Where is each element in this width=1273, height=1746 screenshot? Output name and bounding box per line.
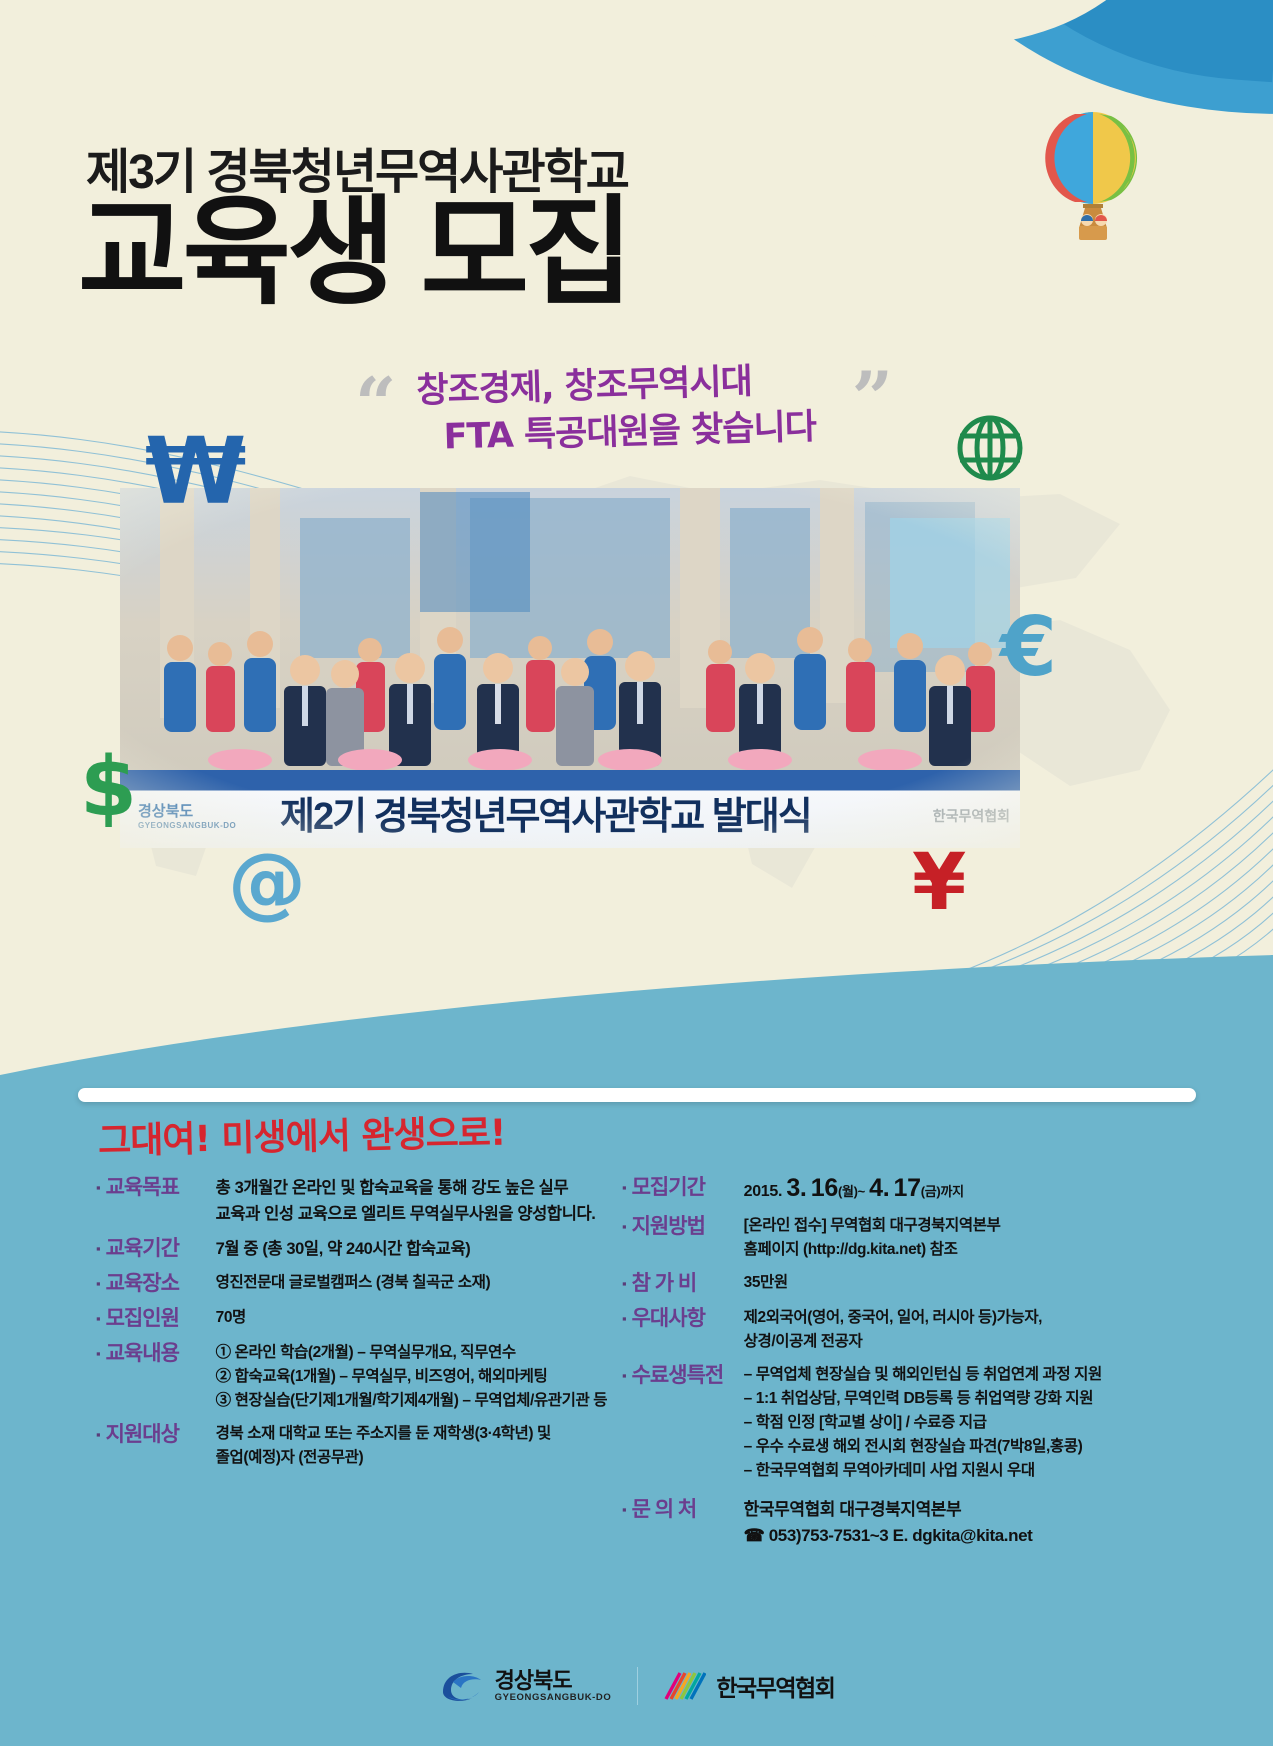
poster-top-section: 경상북도 GYEONGSANGBUK-DO 제2기 경북청년무역사관학교 발대식…	[0, 0, 1273, 1100]
banner-logo-left-sub: GYEONGSANGBUK-DO	[138, 821, 236, 830]
period-month-1: 3.	[786, 1174, 806, 1202]
row-value: 경북 소재 대학교 또는 주소지를 둔 재학생(3·4학년) 및 졸업(예정)자…	[216, 1422, 551, 1470]
info-card	[78, 1088, 1196, 1102]
period-year: 2015.	[744, 1183, 783, 1200]
info-row: ▪ 수료생특전 – 무역업체 현장실습 및 해외인턴십 등 취업연계 과정 지원…	[622, 1363, 1196, 1483]
row-value-line: ① 온라인 학습(2개월) – 무역실무개요, 직무연수	[216, 1341, 608, 1365]
row-value: 한국무역협회 대구경북지역본부 ☎ 053)753-7531~3 E. dgki…	[744, 1497, 1033, 1549]
row-value-line: ② 합숙교육(1개월) – 무역실무, 비즈영어, 해외마케팅	[216, 1365, 608, 1389]
row-value-line: – 한국무역협회 무역아카데미 사업 지원시 우대	[744, 1459, 1102, 1483]
info-row: ▪ 교육장소 영진전문대 글로벌캠퍼스 (경북 칠곡군 소재)	[96, 1271, 598, 1297]
period-day-1-suffix: (월)~	[838, 1184, 865, 1199]
row-value-line: 35만원	[744, 1271, 788, 1295]
row-value-line: ③ 현장실습(단기제1개월/학기제4개월) – 무역업체/유관기관 등	[216, 1389, 608, 1413]
bullet-icon: ▪	[96, 1422, 101, 1470]
row-label: 문 의 처	[632, 1497, 744, 1549]
card-heading: 그대여! 미생에서 완생으로!	[98, 1104, 506, 1165]
row-value-line: – 학점 인정 [학교별 상이] / 수료증 지급	[744, 1411, 1102, 1435]
bullet-icon: ▪	[622, 1497, 627, 1549]
globe-icon	[952, 410, 1028, 486]
bullet-icon: ▪	[622, 1175, 627, 1205]
hot-air-balloon-icon	[1035, 108, 1155, 258]
row-label: 지원방법	[632, 1214, 744, 1262]
period-day-2: 17	[894, 1174, 921, 1202]
row-value: – 무역업체 현장실습 및 해외인턴십 등 취업연계 과정 지원 – 1:1 취…	[744, 1363, 1102, 1483]
kita-logo-text: 한국무역협회	[716, 1669, 834, 1703]
row-label: 수료생특전	[632, 1363, 744, 1483]
info-column-right: ▪ 모집기간 2015. 3. 16(월)~ 4. 17(금)까지 ▪ 지원방법…	[598, 1175, 1196, 1558]
tagline-text: 창조경제, 창조무역시대 FTA 특공대원을 찾습니다	[416, 356, 868, 463]
banner-gyeongsangbuk-logo: 경상북도 GYEONGSANGBUK-DO	[138, 800, 236, 830]
row-value-line: – 무역업체 현장실습 및 해외인턴십 등 취업연계 과정 지원	[744, 1363, 1102, 1387]
row-value: ① 온라인 학습(2개월) – 무역실무개요, 직무연수 ② 합숙교육(1개월)…	[216, 1341, 608, 1413]
info-column-left: ▪ 교육목표 총 3개월간 온라인 및 합숙교육을 통해 강도 높은 실무 교육…	[78, 1175, 598, 1558]
row-value: 영진전문대 글로벌캠퍼스 (경북 칠곡군 소재)	[216, 1271, 491, 1297]
row-label: 모집기간	[632, 1175, 744, 1205]
footer-logo-kita: 한국무역협회	[664, 1669, 834, 1703]
row-value: 총 3개월간 온라인 및 합숙교육을 통해 강도 높은 실무 교육과 인성 교육…	[216, 1175, 596, 1227]
contact-organization: 한국무역협회 대구경북지역본부	[744, 1497, 1033, 1523]
row-label: 참 가 비	[632, 1271, 744, 1297]
row-value-line: 총 3개월간 온라인 및 합숙교육을 통해 강도 높은 실무	[216, 1175, 596, 1201]
row-value-line: [온라인 접수] 무역협회 대구경북지역본부	[744, 1214, 1001, 1238]
bullet-icon: ▪	[96, 1271, 101, 1297]
info-row: ▪ 참 가 비 35만원	[622, 1271, 1196, 1297]
row-label: 교육기간	[106, 1236, 216, 1262]
info-columns: ▪ 교육목표 총 3개월간 온라인 및 합숙교육을 통해 강도 높은 실무 교육…	[78, 1175, 1196, 1558]
row-value-recruit-period: 2015. 3. 16(월)~ 4. 17(금)까지	[744, 1175, 964, 1205]
bullet-icon: ▪	[622, 1271, 627, 1297]
bullet-icon: ▪	[96, 1306, 101, 1332]
bullet-icon: ▪	[96, 1341, 101, 1413]
photo-crowd	[120, 620, 1020, 770]
info-row: ▪ 교육목표 총 3개월간 온라인 및 합숙교육을 통해 강도 높은 실무 교육…	[96, 1175, 598, 1227]
row-label: 교육내용	[106, 1341, 216, 1413]
tagline-line-1: 창조경제, 창조무역시대	[416, 362, 752, 411]
info-row: ▪ 모집기간 2015. 3. 16(월)~ 4. 17(금)까지	[622, 1175, 1196, 1205]
row-value-line: 경북 소재 대학교 또는 주소지를 둔 재학생(3·4학년) 및	[216, 1422, 551, 1446]
bullet-icon: ▪	[96, 1175, 101, 1227]
row-value: 35만원	[744, 1271, 788, 1297]
yen-currency-icon: ¥	[912, 838, 966, 928]
quote-open-icon: “	[355, 368, 396, 440]
event-photograph: 경상북도 GYEONGSANGBUK-DO 제2기 경북청년무역사관학교 발대식…	[120, 488, 1020, 848]
bullet-icon: ▪	[622, 1214, 627, 1262]
bullet-icon: ▪	[96, 1236, 101, 1262]
gyeongsangbuk-logo-text: 경상북도 GYEONGSANGBUK-DO	[495, 1669, 612, 1702]
info-row: ▪ 우대사항 제2외국어(영어, 중국어, 일어, 러시아 등)가능자, 상경/…	[622, 1306, 1196, 1354]
bullet-icon: ▪	[622, 1306, 627, 1354]
row-value: 7월 중 (총 30일, 약 240시간 합숙교육)	[216, 1236, 471, 1262]
row-value: 70명	[216, 1306, 246, 1332]
info-row-contact: ▪ 문 의 처 한국무역협회 대구경북지역본부 ☎ 053)753-7531~3…	[622, 1497, 1196, 1549]
dollar-currency-icon: $	[80, 740, 137, 835]
period-day-2-suffix: (금)까지	[921, 1184, 964, 1199]
at-sign-icon: @	[228, 838, 306, 928]
gyeongsangbuk-name: 경상북도	[495, 1668, 572, 1693]
gyeongsangbuk-romanized: GYEONGSANGBUK-DO	[495, 1693, 612, 1703]
footer-logo-gyeongsangbuk: 경상북도 GYEONGSANGBUK-DO	[439, 1668, 612, 1704]
poster-footer: 경상북도 GYEONGSANGBUK-DO 한국무역협회	[0, 1626, 1273, 1746]
row-label: 교육장소	[106, 1271, 216, 1297]
row-value-line-homepage[interactable]: 홈페이지 (http://dg.kita.net) 참조	[744, 1238, 1001, 1262]
row-value: [온라인 접수] 무역협회 대구경북지역본부 홈페이지 (http://dg.k…	[744, 1214, 1001, 1262]
row-value-line: 제2외국어(영어, 중국어, 일어, 러시아 등)가능자,	[744, 1306, 1042, 1330]
won-currency-icon: ₩	[145, 418, 246, 525]
row-value-line: 7월 중 (총 30일, 약 240시간 합숙교육)	[216, 1236, 471, 1262]
banner-kita-logo: 한국무역협회	[933, 806, 1010, 826]
row-value-line: 영진전문대 글로벌캠퍼스 (경북 칠곡군 소재)	[216, 1271, 491, 1295]
tagline-line-2: FTA 특공대원을 찾습니다	[443, 403, 868, 462]
row-label: 모집인원	[106, 1306, 216, 1332]
info-row: ▪ 지원대상 경북 소재 대학교 또는 주소지를 둔 재학생(3·4학년) 및 …	[96, 1422, 598, 1470]
period-month-2: 4.	[869, 1174, 889, 1202]
row-value: 제2외국어(영어, 중국어, 일어, 러시아 등)가능자, 상경/이공계 전공자	[744, 1306, 1042, 1354]
poster-title: 교육생 모집	[78, 190, 630, 317]
row-value-line: – 1:1 취업상담, 무역인력 DB등록 등 취업역량 강화 지원	[744, 1387, 1102, 1411]
row-value-line: – 우수 수료생 해외 전시회 현장실습 파견(7박8일,홍콩)	[744, 1435, 1102, 1459]
photo-stage-banner: 경상북도 GYEONGSANGBUK-DO 제2기 경북청년무역사관학교 발대식…	[120, 770, 1020, 848]
gyeongsangbuk-logo-icon	[439, 1668, 485, 1704]
row-value-line: 교육과 인성 교육으로 엘리트 무역실무사원을 양성합니다.	[216, 1201, 596, 1227]
row-label: 우대사항	[632, 1306, 744, 1354]
row-label: 교육목표	[106, 1175, 216, 1227]
info-row: ▪ 교육내용 ① 온라인 학습(2개월) – 무역실무개요, 직무연수 ② 합숙…	[96, 1341, 598, 1413]
info-row: ▪ 교육기간 7월 중 (총 30일, 약 240시간 합숙교육)	[96, 1236, 598, 1262]
bullet-icon: ▪	[622, 1363, 627, 1483]
footer-divider	[637, 1667, 638, 1705]
row-value-line: 70명	[216, 1306, 246, 1330]
euro-currency-icon: €	[1000, 600, 1057, 695]
row-label: 지원대상	[106, 1422, 216, 1470]
info-row: ▪ 지원방법 [온라인 접수] 무역협회 대구경북지역본부 홈페이지 (http…	[622, 1214, 1196, 1262]
contact-phone-email[interactable]: ☎ 053)753-7531~3 E. dgkita@kita.net	[744, 1523, 1033, 1549]
tagline-block: “ ” 창조경제, 창조무역시대 FTA 특공대원을 찾습니다	[355, 360, 875, 480]
row-value-line: 졸업(예정)자 (전공무관)	[216, 1446, 551, 1470]
banner-headline: 제2기 경북청년무역사관학교 발대식	[280, 785, 811, 840]
row-value-line: 상경/이공계 전공자	[744, 1330, 1042, 1354]
period-day-1: 16	[811, 1174, 838, 1202]
info-row: ▪ 모집인원 70명	[96, 1306, 598, 1332]
kita-logo-icon	[664, 1671, 706, 1701]
banner-logo-left-text: 경상북도	[138, 803, 193, 820]
